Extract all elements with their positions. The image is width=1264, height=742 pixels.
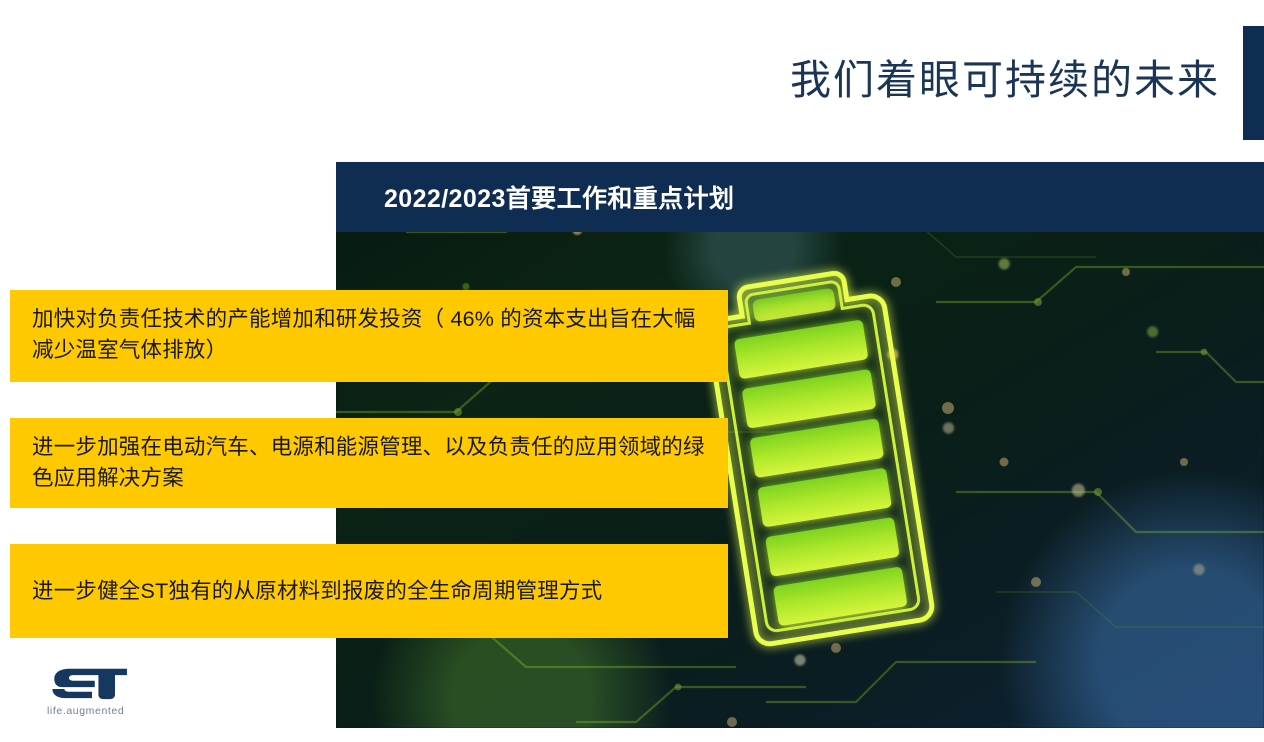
section-header-band: 2022/2023首要工作和重点计划 [336, 162, 1264, 232]
callout-text-3: 进一步健全ST独有的从原材料到报废的全生命周期管理方式 [32, 576, 602, 607]
slide-canvas: 我们着眼可持续的未来 [0, 0, 1264, 742]
st-logo-tagline: life.augmented [47, 705, 156, 717]
title-accent-bar [1243, 26, 1264, 140]
page-title: 我们着眼可持续的未来 [790, 58, 1220, 103]
callout-box-2: 进一步加强在电动汽车、电源和能源管理、以及负责任的应用领域的绿色应用解决方案 [10, 418, 728, 508]
callout-text-2: 进一步加强在电动汽车、电源和能源管理、以及负责任的应用领域的绿色应用解决方案 [32, 435, 705, 490]
callout-text-1: 加快对负责任技术的产能增加和研发投资（ 46% 的资本支出旨在大幅减少温室气体排… [32, 307, 696, 362]
section-header-title: 2022/2023首要工作和重点计划 [384, 179, 734, 215]
callout-box-3: 进一步健全ST独有的从原材料到报废的全生命周期管理方式 [10, 544, 728, 638]
callout-box-1: 加快对负责任技术的产能增加和研发投资（ 46% 的资本支出旨在大幅减少温室气体排… [10, 290, 728, 382]
st-logo-icon [46, 664, 138, 702]
st-logo: life.augmented [46, 664, 156, 726]
bottom-strip [0, 729, 1264, 742]
